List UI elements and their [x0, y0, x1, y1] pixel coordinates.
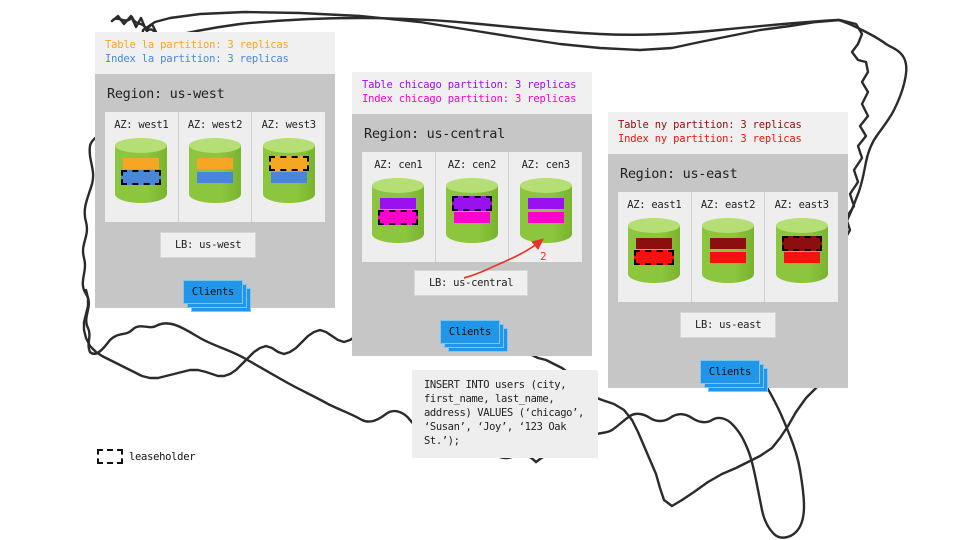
clients-stack-us-east[interactable]: Clients: [700, 360, 764, 386]
load-balancer-us-east[interactable]: LB: us-east: [680, 312, 776, 338]
node-cylinder-east2[interactable]: [702, 218, 754, 290]
clients-stack-us-west[interactable]: Clients: [183, 280, 247, 306]
region-panel-us-west: Table la partition: 3 replicas Index la …: [95, 32, 335, 308]
replica-bar-table-leaseholder: [269, 156, 309, 171]
legend-label: leaseholder: [129, 451, 195, 463]
az-label: AZ: west3: [258, 119, 319, 131]
cylinder-top: [520, 178, 572, 193]
region-title: Region: us-west: [107, 86, 323, 102]
az-label: AZ: cen2: [442, 159, 503, 171]
az-cell-west1[interactable]: AZ: west1: [105, 112, 178, 222]
replica-bar-table: [528, 198, 564, 209]
node-cylinder-east3[interactable]: [776, 218, 828, 290]
replica-bar-index: [528, 212, 564, 223]
az-label: AZ: east2: [698, 199, 759, 211]
replica-bar-index: [271, 172, 307, 183]
cylinder-top: [776, 218, 828, 233]
replica-bar-index-leaseholder: [378, 210, 418, 225]
table-partition-line: Table chicago partition: 3 replicas: [362, 79, 582, 93]
region-panel-us-east: Table ny partition: 3 replicas Index ny …: [608, 112, 848, 388]
node-cylinder-cen1[interactable]: [372, 178, 424, 250]
node-cylinder-west3[interactable]: [263, 138, 315, 210]
node-cylinder-east1[interactable]: [628, 218, 680, 290]
index-partition-line: Index chicago partition: 3 replicas: [362, 93, 582, 107]
clients-label[interactable]: Clients: [440, 320, 500, 344]
region-header-us-central: Table chicago partition: 3 replicas Inde…: [352, 72, 592, 114]
clients-label[interactable]: Clients: [183, 280, 243, 304]
az-cell-west3[interactable]: AZ: west3: [251, 112, 325, 222]
cylinder-top: [702, 218, 754, 233]
az-label: AZ: east1: [624, 199, 685, 211]
az-label: AZ: cen1: [368, 159, 429, 171]
replica-bar-index: [710, 252, 746, 263]
az-label: AZ: east3: [771, 199, 832, 211]
table-partition-line: Table la partition: 3 replicas: [105, 39, 325, 53]
az-cell-cen1[interactable]: AZ: cen1: [362, 152, 435, 262]
replica-bar-table: [380, 198, 416, 209]
cylinder-top: [189, 138, 241, 153]
az-cell-east1[interactable]: AZ: east1: [618, 192, 691, 302]
replica-bar-index: [784, 252, 820, 263]
region-panel-us-central: Table chicago partition: 3 replicas Inde…: [352, 72, 592, 356]
az-row-us-west: AZ: west1 AZ: west2: [105, 112, 325, 222]
node-cylinder-west2[interactable]: [189, 138, 241, 210]
index-partition-line: Index ny partition: 3 replicas: [618, 133, 838, 147]
replica-bar-index-leaseholder: [634, 250, 674, 265]
region-title: Region: us-central: [364, 126, 580, 142]
az-cell-east3[interactable]: AZ: east3: [764, 192, 838, 302]
dashed-box-icon: [97, 449, 123, 464]
replica-bar-index: [197, 172, 233, 183]
replica-bar-table: [710, 238, 746, 249]
legend-leaseholder: leaseholder: [97, 449, 195, 464]
index-partition-line: Index la partition: 3 replicas: [105, 53, 325, 67]
az-cell-east2[interactable]: AZ: east2: [691, 192, 765, 302]
replica-bar-table-leaseholder: [452, 196, 492, 211]
az-row-us-east: AZ: east1 AZ: east2: [618, 192, 838, 302]
cylinder-top: [628, 218, 680, 233]
cylinder-top: [263, 138, 315, 153]
cylinder-top: [115, 138, 167, 153]
region-title: Region: us-east: [620, 166, 836, 182]
clients-stack-us-central[interactable]: Clients: [440, 320, 504, 346]
node-cylinder-west1[interactable]: [115, 138, 167, 210]
region-body-us-west: Region: us-west AZ: west1 AZ: west2: [95, 74, 335, 308]
region-header-us-west: Table la partition: 3 replicas Index la …: [95, 32, 335, 74]
routing-arrow-label: 2: [540, 250, 547, 263]
az-label: AZ: cen3: [515, 159, 576, 171]
routing-arrow-2: [460, 228, 570, 288]
az-label: AZ: west2: [185, 119, 246, 131]
az-cell-west2[interactable]: AZ: west2: [178, 112, 252, 222]
replica-bar-table: [636, 238, 672, 249]
table-partition-line: Table ny partition: 3 replicas: [618, 119, 838, 133]
az-label: AZ: west1: [111, 119, 172, 131]
replica-bar-table: [123, 158, 159, 169]
clients-label[interactable]: Clients: [700, 360, 760, 384]
cylinder-top: [446, 178, 498, 193]
replica-bar-index-leaseholder: [121, 170, 161, 185]
region-body-us-east: Region: us-east AZ: east1 AZ: east2: [608, 154, 848, 388]
replica-bar-index: [454, 212, 490, 223]
region-header-us-east: Table ny partition: 3 replicas Index ny …: [608, 112, 848, 154]
cylinder-top: [372, 178, 424, 193]
replica-bar-table: [197, 158, 233, 169]
sql-statement-callout: INSERT INTO users (city, first_name, las…: [412, 370, 598, 458]
replica-bar-table-leaseholder: [782, 236, 822, 251]
load-balancer-us-west[interactable]: LB: us-west: [160, 232, 256, 258]
